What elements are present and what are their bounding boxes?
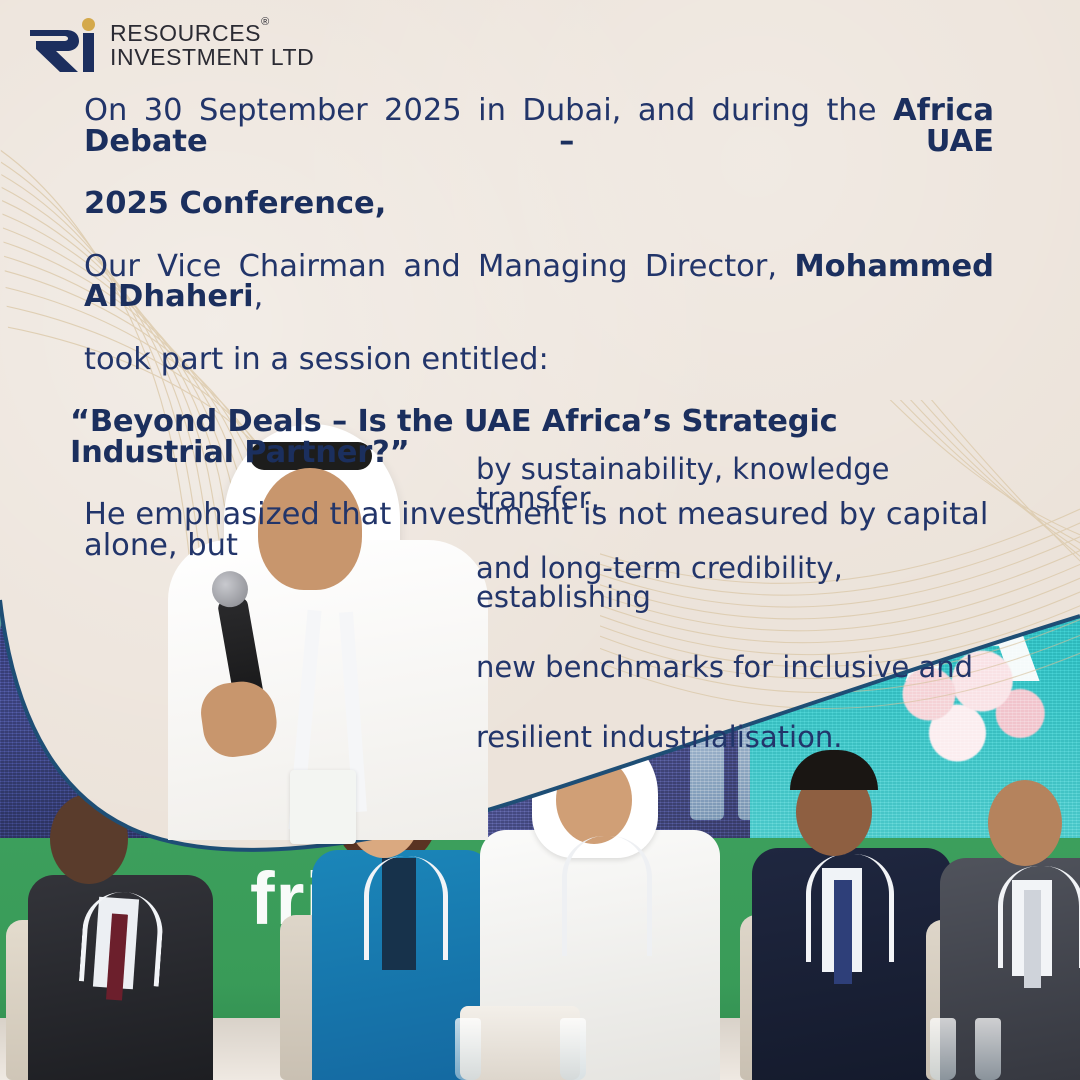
social-post-card: frica ate [0,0,1080,1080]
copy-para2-line-2: and long-term credibility, establishing [476,554,996,612]
lanyard [998,866,1080,968]
copy-para2-line-1: by sustainability, knowledge transfer, [476,455,996,513]
water-glass-2 [560,1018,586,1080]
copy-line-3: Our Vice Chairman and Managing Director,… [84,252,994,313]
lanyard [562,836,652,956]
water-glass-1 [455,1018,481,1080]
conference-badge [290,770,356,844]
ri-monogram-icon [26,16,98,74]
registered-mark: ® [261,16,270,28]
water-glass-4 [975,1018,1001,1080]
brand-logo[interactable]: RESOURCES® INVESTMENT LTD [26,16,314,74]
head [988,780,1062,866]
lanyard [364,856,448,960]
copy-line-1: On 30 September 2025 in Dubai, and durin… [84,96,994,157]
brand-name-line1: RESOURCES [110,20,261,46]
copy-para2-line-3: new benchmarks for inclusive and [476,653,996,682]
post-copy-indented: by sustainability, knowledge transfer, a… [476,455,996,793]
copy-line-2: 2025 Conference, [84,189,994,220]
copy-para2-line-4: resilient industrialisation. [476,723,996,752]
brand-wordmark: RESOURCES® INVESTMENT LTD [110,21,314,70]
water-glass-3 [930,1018,956,1080]
brand-name-line2: INVESTMENT LTD [110,45,314,69]
lanyard [806,854,894,962]
copy-line-3-comma: , [254,279,264,314]
panelist-1 [10,810,240,1080]
copy-line-4: took part in a session entitled: [84,345,994,376]
panelist-5 [940,790,1080,1080]
event-name-part2: 2025 Conference, [84,186,386,221]
